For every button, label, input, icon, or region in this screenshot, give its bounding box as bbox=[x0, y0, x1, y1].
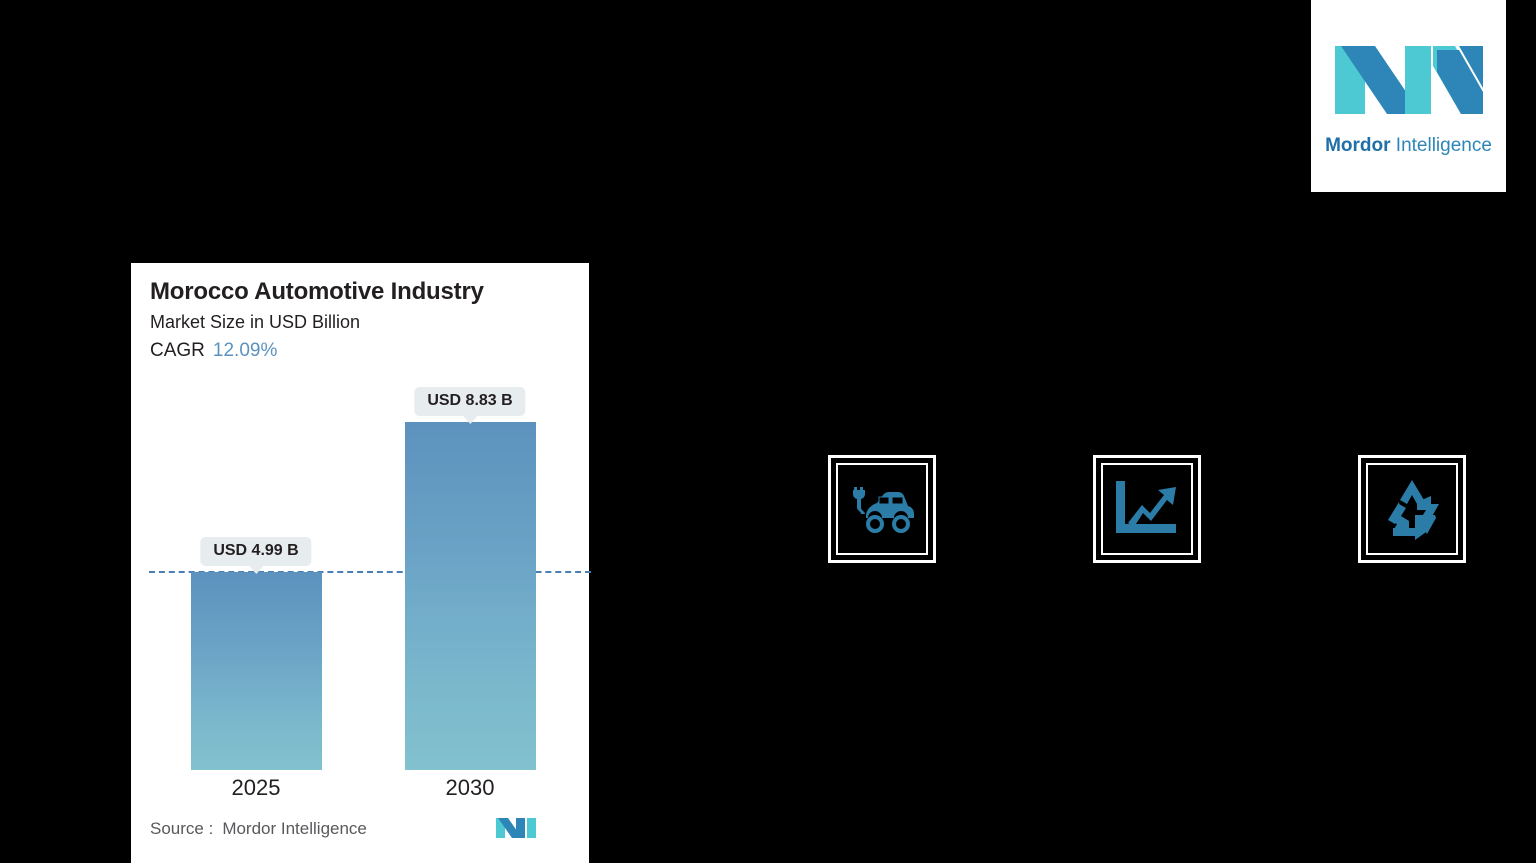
source-label: Source : bbox=[150, 819, 213, 839]
highlight-caption-3: Sustainable Manufacturing bbox=[1358, 600, 1466, 650]
source-name: Mordor Intelligence bbox=[222, 819, 367, 839]
highlight-frame-1 bbox=[828, 455, 936, 563]
highlight-frame-2 bbox=[1093, 455, 1201, 563]
mordor-intelligence-wordmark: Mordor Intelligence bbox=[1325, 135, 1492, 157]
chart-card: Morocco Automotive Industry Market Size … bbox=[131, 263, 589, 863]
header-title-line2: Report bbox=[44, 105, 141, 139]
highlight-caption-1: Electric Vehicle Adoption bbox=[824, 600, 939, 650]
electric-car-icon bbox=[846, 483, 918, 535]
wordmark-intelligence: Intelligence bbox=[1391, 135, 1492, 156]
category-label-2030: 2030 bbox=[446, 775, 495, 801]
section-subheading: Key Market Trends bbox=[800, 238, 996, 264]
highlight-caption-2: Rising Production Output bbox=[1080, 600, 1213, 650]
wordmark-mordor: Mordor bbox=[1325, 135, 1390, 156]
recycling-icon bbox=[1379, 478, 1445, 540]
growth-chart-icon bbox=[1114, 479, 1180, 539]
bar-2030[interactable] bbox=[405, 422, 536, 770]
mordor-intelligence-mark-icon bbox=[496, 814, 538, 847]
highlight-frame-3-inner bbox=[1366, 463, 1458, 555]
category-label-2025: 2025 bbox=[232, 775, 281, 801]
chart-plot-area: USD 4.99 B USD 8.83 B 2025 2030 bbox=[131, 263, 589, 863]
highlight-frame-2-inner bbox=[1101, 463, 1193, 555]
bar-2025[interactable] bbox=[191, 572, 322, 770]
highlight-frame-1-inner bbox=[836, 463, 928, 555]
mordor-intelligence-logo-icon bbox=[1333, 36, 1485, 129]
bar-value-label-2030: USD 8.83 B bbox=[414, 387, 525, 416]
mordor-intelligence-logo-card: Mordor Intelligence bbox=[1311, 0, 1506, 192]
highlight-frame-3 bbox=[1358, 455, 1466, 563]
header-title-line1: Morocco Automotive Industry Market Analy… bbox=[62, 55, 730, 89]
bar-value-label-2025: USD 4.99 B bbox=[200, 537, 311, 566]
